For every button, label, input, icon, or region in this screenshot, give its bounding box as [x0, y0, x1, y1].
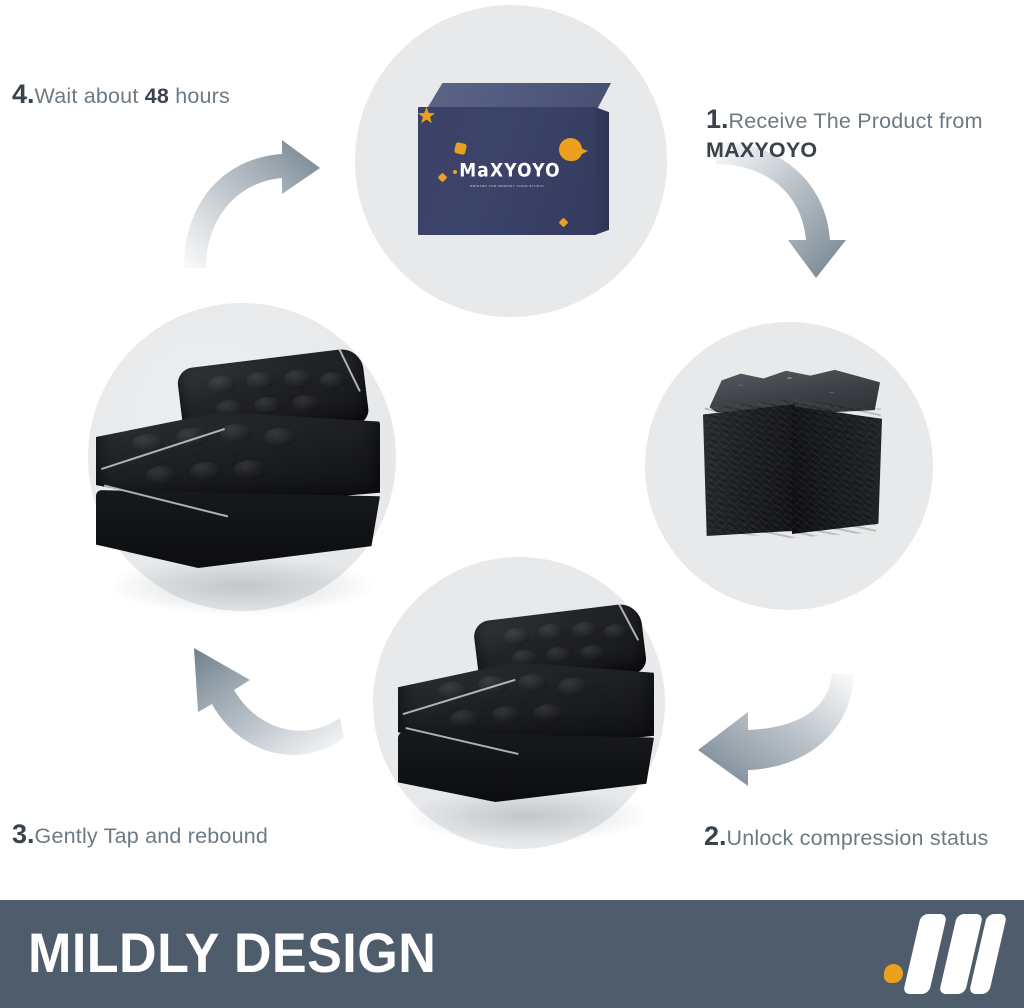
sofa-tuft	[190, 462, 222, 481]
step-3-number: 3.	[12, 819, 35, 849]
arrow-step3-to-step4	[172, 622, 347, 787]
sofa-tuft	[254, 397, 282, 414]
floor-sofa-step3	[392, 600, 662, 850]
step-3-caption: 3.Gently Tap and rebound	[12, 791, 292, 851]
step-4-text-after: hours	[169, 84, 230, 108]
step-2-number: 2.	[704, 821, 727, 851]
sofa-tuft	[504, 628, 530, 645]
box-logo-wordmark: MaXYOYO	[459, 160, 561, 182]
sofa-tuft	[284, 370, 312, 388]
sofa-tuft	[208, 376, 236, 394]
compressed-foam-block	[700, 366, 886, 540]
sofa-tuft	[558, 678, 588, 696]
sofa-tuft	[538, 624, 564, 641]
step-1-number: 1.	[706, 104, 729, 134]
box-side-face	[595, 107, 609, 235]
sofa-tuft	[534, 704, 564, 722]
product-shipping-box: MaXYOYO PRINTED FOR MEMORY FOAM STUDIO	[415, 83, 611, 235]
sofa-tuft	[546, 647, 572, 663]
step-1-text: Receive The Product from	[729, 109, 983, 133]
sofa-tuft	[320, 372, 346, 389]
sofa-tuft	[264, 428, 296, 447]
sofa-base	[398, 732, 654, 802]
step-4-caption: 4.Wait about 48 hours	[12, 80, 342, 111]
box-logo-tagline: PRINTED FOR MEMORY FOAM STUDIO	[418, 184, 596, 188]
sofa-tuft	[450, 710, 480, 728]
step-4-number: 4.	[12, 79, 35, 109]
sofa-tuft	[246, 372, 274, 390]
infographic-canvas: MaXYOYO PRINTED FOR MEMORY FOAM STUDIO	[0, 0, 1024, 1008]
sofa-tuft	[220, 424, 252, 443]
step-3-text: Gently Tap and rebound	[35, 824, 269, 848]
step-2-caption: 2.Unlock compression status	[704, 793, 1014, 853]
box-logo-dot-icon	[453, 170, 457, 174]
floor-sofa-step4	[92, 350, 392, 620]
sofa-tuft	[146, 466, 178, 485]
step-4-text-before: Wait about	[35, 84, 145, 108]
box-logo: MaXYOYO PRINTED FOR MEMORY FOAM STUDIO	[418, 161, 596, 188]
sofa-tuft	[580, 645, 606, 661]
sofa-tuft	[518, 674, 548, 692]
sofa-tuft	[492, 706, 522, 724]
step-1-brand: MAXYOYO	[706, 138, 817, 162]
sofa-tuft	[292, 395, 320, 412]
sofa-shadow	[106, 556, 378, 616]
box-decoration-diamond2-icon	[559, 218, 569, 228]
step-2-text: Unlock compression status	[727, 826, 989, 850]
sofa-tuft	[234, 460, 266, 479]
arrow-step2-to-step3	[690, 672, 860, 802]
step-4-hours-value: 48	[145, 84, 169, 108]
sofa-tuft	[604, 624, 628, 640]
foam-block-texture	[703, 396, 883, 538]
box-decoration-star-icon	[418, 107, 435, 124]
bottom-banner: MILDLY DESIGN	[0, 900, 1024, 1008]
box-top-face	[415, 83, 611, 109]
step-1-caption: 1.Receive The Product from MAXYOYO	[706, 76, 1006, 165]
box-decoration-circle-icon	[559, 138, 582, 161]
maxyoyo-logo	[870, 914, 1000, 998]
sofa-base	[96, 490, 380, 568]
banner-title: MILDLY DESIGN	[28, 920, 436, 985]
arrow-step4-to-step1	[178, 128, 328, 278]
logo-dot-icon	[884, 964, 903, 983]
box-decoration-square-icon	[454, 142, 467, 155]
box-front-face: MaXYOYO PRINTED FOR MEMORY FOAM STUDIO	[418, 107, 596, 235]
sofa-tuft	[572, 622, 598, 639]
